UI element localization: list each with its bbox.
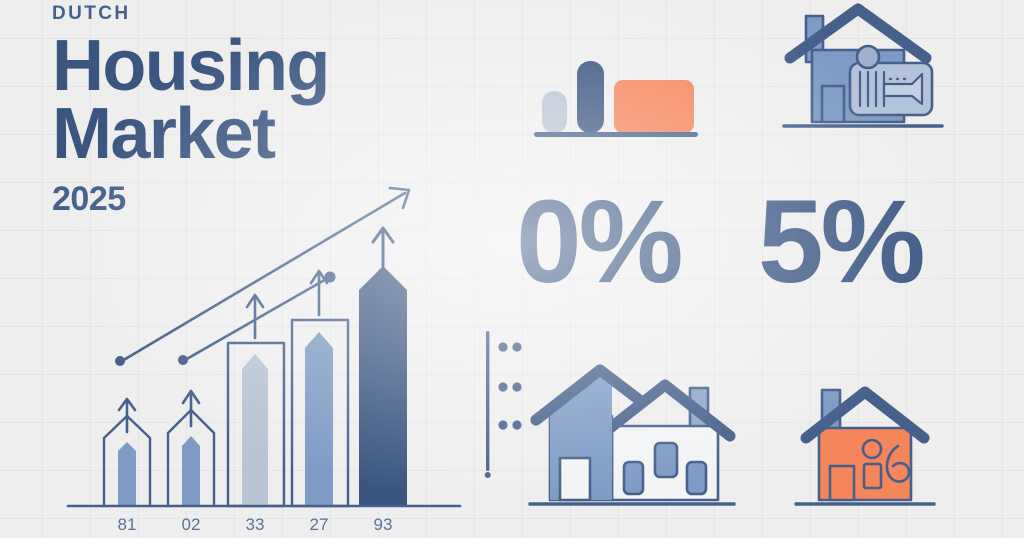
person-head <box>857 46 879 68</box>
mini-bar-orange <box>614 80 694 133</box>
divider-dot-pair-1 <box>498 342 521 351</box>
bar-group-2 <box>168 391 214 506</box>
mini-bar-chart-icon <box>528 48 708 138</box>
house-with-panel-icon <box>778 2 948 140</box>
divider-dot-pair-2 <box>498 382 521 391</box>
divider-end-dot <box>485 472 491 478</box>
vertical-dotted-divider-icon <box>478 325 528 485</box>
page-title: Housing Market <box>52 33 472 168</box>
stat-percent-zero: 0% <box>516 183 681 301</box>
mini-bar-light <box>542 91 567 133</box>
bar-label-2: 33 <box>246 515 265 534</box>
stat-percent-five: 5% <box>758 183 923 301</box>
bar-label-0: 81 <box>118 515 137 534</box>
divider-dot-pair-3 <box>498 420 521 429</box>
mini-bar-navy <box>577 61 604 133</box>
double-house-icon <box>524 358 740 514</box>
bar-label-4: 93 <box>374 515 393 534</box>
left-door <box>560 458 590 500</box>
door <box>822 86 844 122</box>
bar-group-3 <box>228 295 284 506</box>
bar-group-1 <box>104 399 150 506</box>
bar-group-4 <box>292 271 348 506</box>
mini-bar-baseline <box>534 132 698 137</box>
kicker-label: DUTCH <box>52 0 472 23</box>
bar-label-3: 27 <box>310 515 329 534</box>
bar-group-5 <box>359 228 407 506</box>
right-window-left <box>624 462 643 494</box>
headline-line-2: Market <box>52 101 472 169</box>
door <box>830 466 854 500</box>
infographic-poster: DUTCH Housing Market 2025 0% 5% <box>0 0 1024 538</box>
right-window-right <box>687 462 706 494</box>
bar-chart: 81 02 33 27 93 <box>60 170 480 538</box>
divider-line <box>486 331 489 471</box>
bar-label-1: 02 <box>182 515 201 534</box>
orange-house-icon <box>792 378 938 514</box>
right-window-center <box>655 443 677 477</box>
